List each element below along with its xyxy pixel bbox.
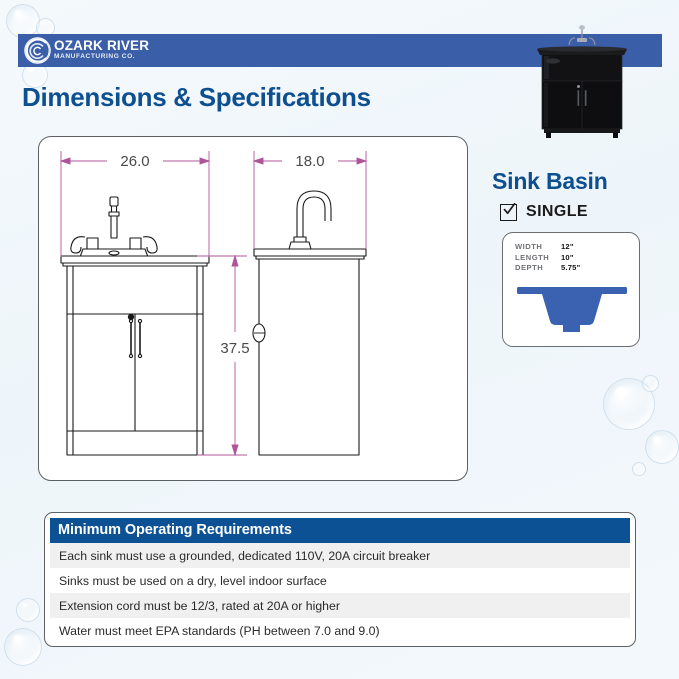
side-depth-label: 18.0 — [295, 153, 324, 170]
single-basin-checkbox[interactable] — [500, 204, 517, 221]
requirements-heading: Minimum Operating Requirements — [50, 518, 630, 543]
spec-row-depth: DEPTH 5.75" — [515, 263, 639, 274]
bubble-decoration-icon — [632, 462, 646, 476]
brand-logo-text: OZARK RIVER MANUFACTURING CO. — [54, 39, 149, 61]
spec-value: 5.75" — [561, 263, 580, 274]
bubble-decoration-icon — [642, 375, 659, 392]
spec-value: 12" — [561, 242, 574, 253]
brand-name: OZARK RIVER — [54, 39, 149, 53]
requirement-row: Each sink must use a grounded, dedicated… — [50, 543, 630, 568]
basin-cross-section-icon — [511, 281, 633, 339]
bubble-decoration-icon — [16, 598, 40, 622]
spec-row-length: LENGTH 10" — [515, 253, 639, 264]
spec-value: 10" — [561, 253, 574, 264]
single-basin-label: SINGLE — [526, 203, 588, 221]
check-icon — [503, 203, 516, 216]
requirement-row: Water must meet EPA standards (PH betwee… — [50, 618, 630, 643]
requirement-row: Sinks must be used on a dry, level indoo… — [50, 568, 630, 593]
product-photo — [527, 22, 637, 139]
requirement-row: Extension cord must be 12/3, rated at 20… — [50, 593, 630, 618]
bubble-decoration-icon — [6, 4, 40, 38]
basin-spec-card: WIDTH 12" LENGTH 10" DEPTH 5.75" — [502, 232, 640, 347]
page-title: Dimensions & Specifications — [22, 82, 371, 113]
spec-key: WIDTH — [515, 242, 561, 253]
basin-option-single[interactable]: SINGLE — [500, 203, 588, 221]
water-ripple-icon — [24, 37, 51, 64]
minimum-operating-requirements-panel: Minimum Operating Requirements Each sink… — [44, 512, 636, 647]
sink-basin-heading: Sink Basin — [492, 168, 608, 195]
dimensions-drawing-panel: 26.0 18.0 37.5 — [38, 136, 468, 481]
brand-tagline: MANUFACTURING CO. — [54, 54, 149, 61]
spec-key: DEPTH — [515, 263, 561, 274]
bubble-decoration-icon — [645, 430, 679, 464]
brand-logo: OZARK RIVER MANUFACTURING CO. — [24, 36, 160, 65]
bubble-decoration-icon — [4, 628, 42, 666]
overall-height-label: 37.5 — [220, 340, 249, 357]
front-width-label: 26.0 — [120, 153, 149, 170]
spec-key: LENGTH — [515, 253, 561, 264]
technical-drawing: 26.0 18.0 37.5 — [39, 137, 469, 482]
spec-sheet-page: OZARK RIVER MANUFACTURING CO. Dimensions… — [0, 0, 679, 679]
spec-row-width: WIDTH 12" — [515, 242, 639, 253]
